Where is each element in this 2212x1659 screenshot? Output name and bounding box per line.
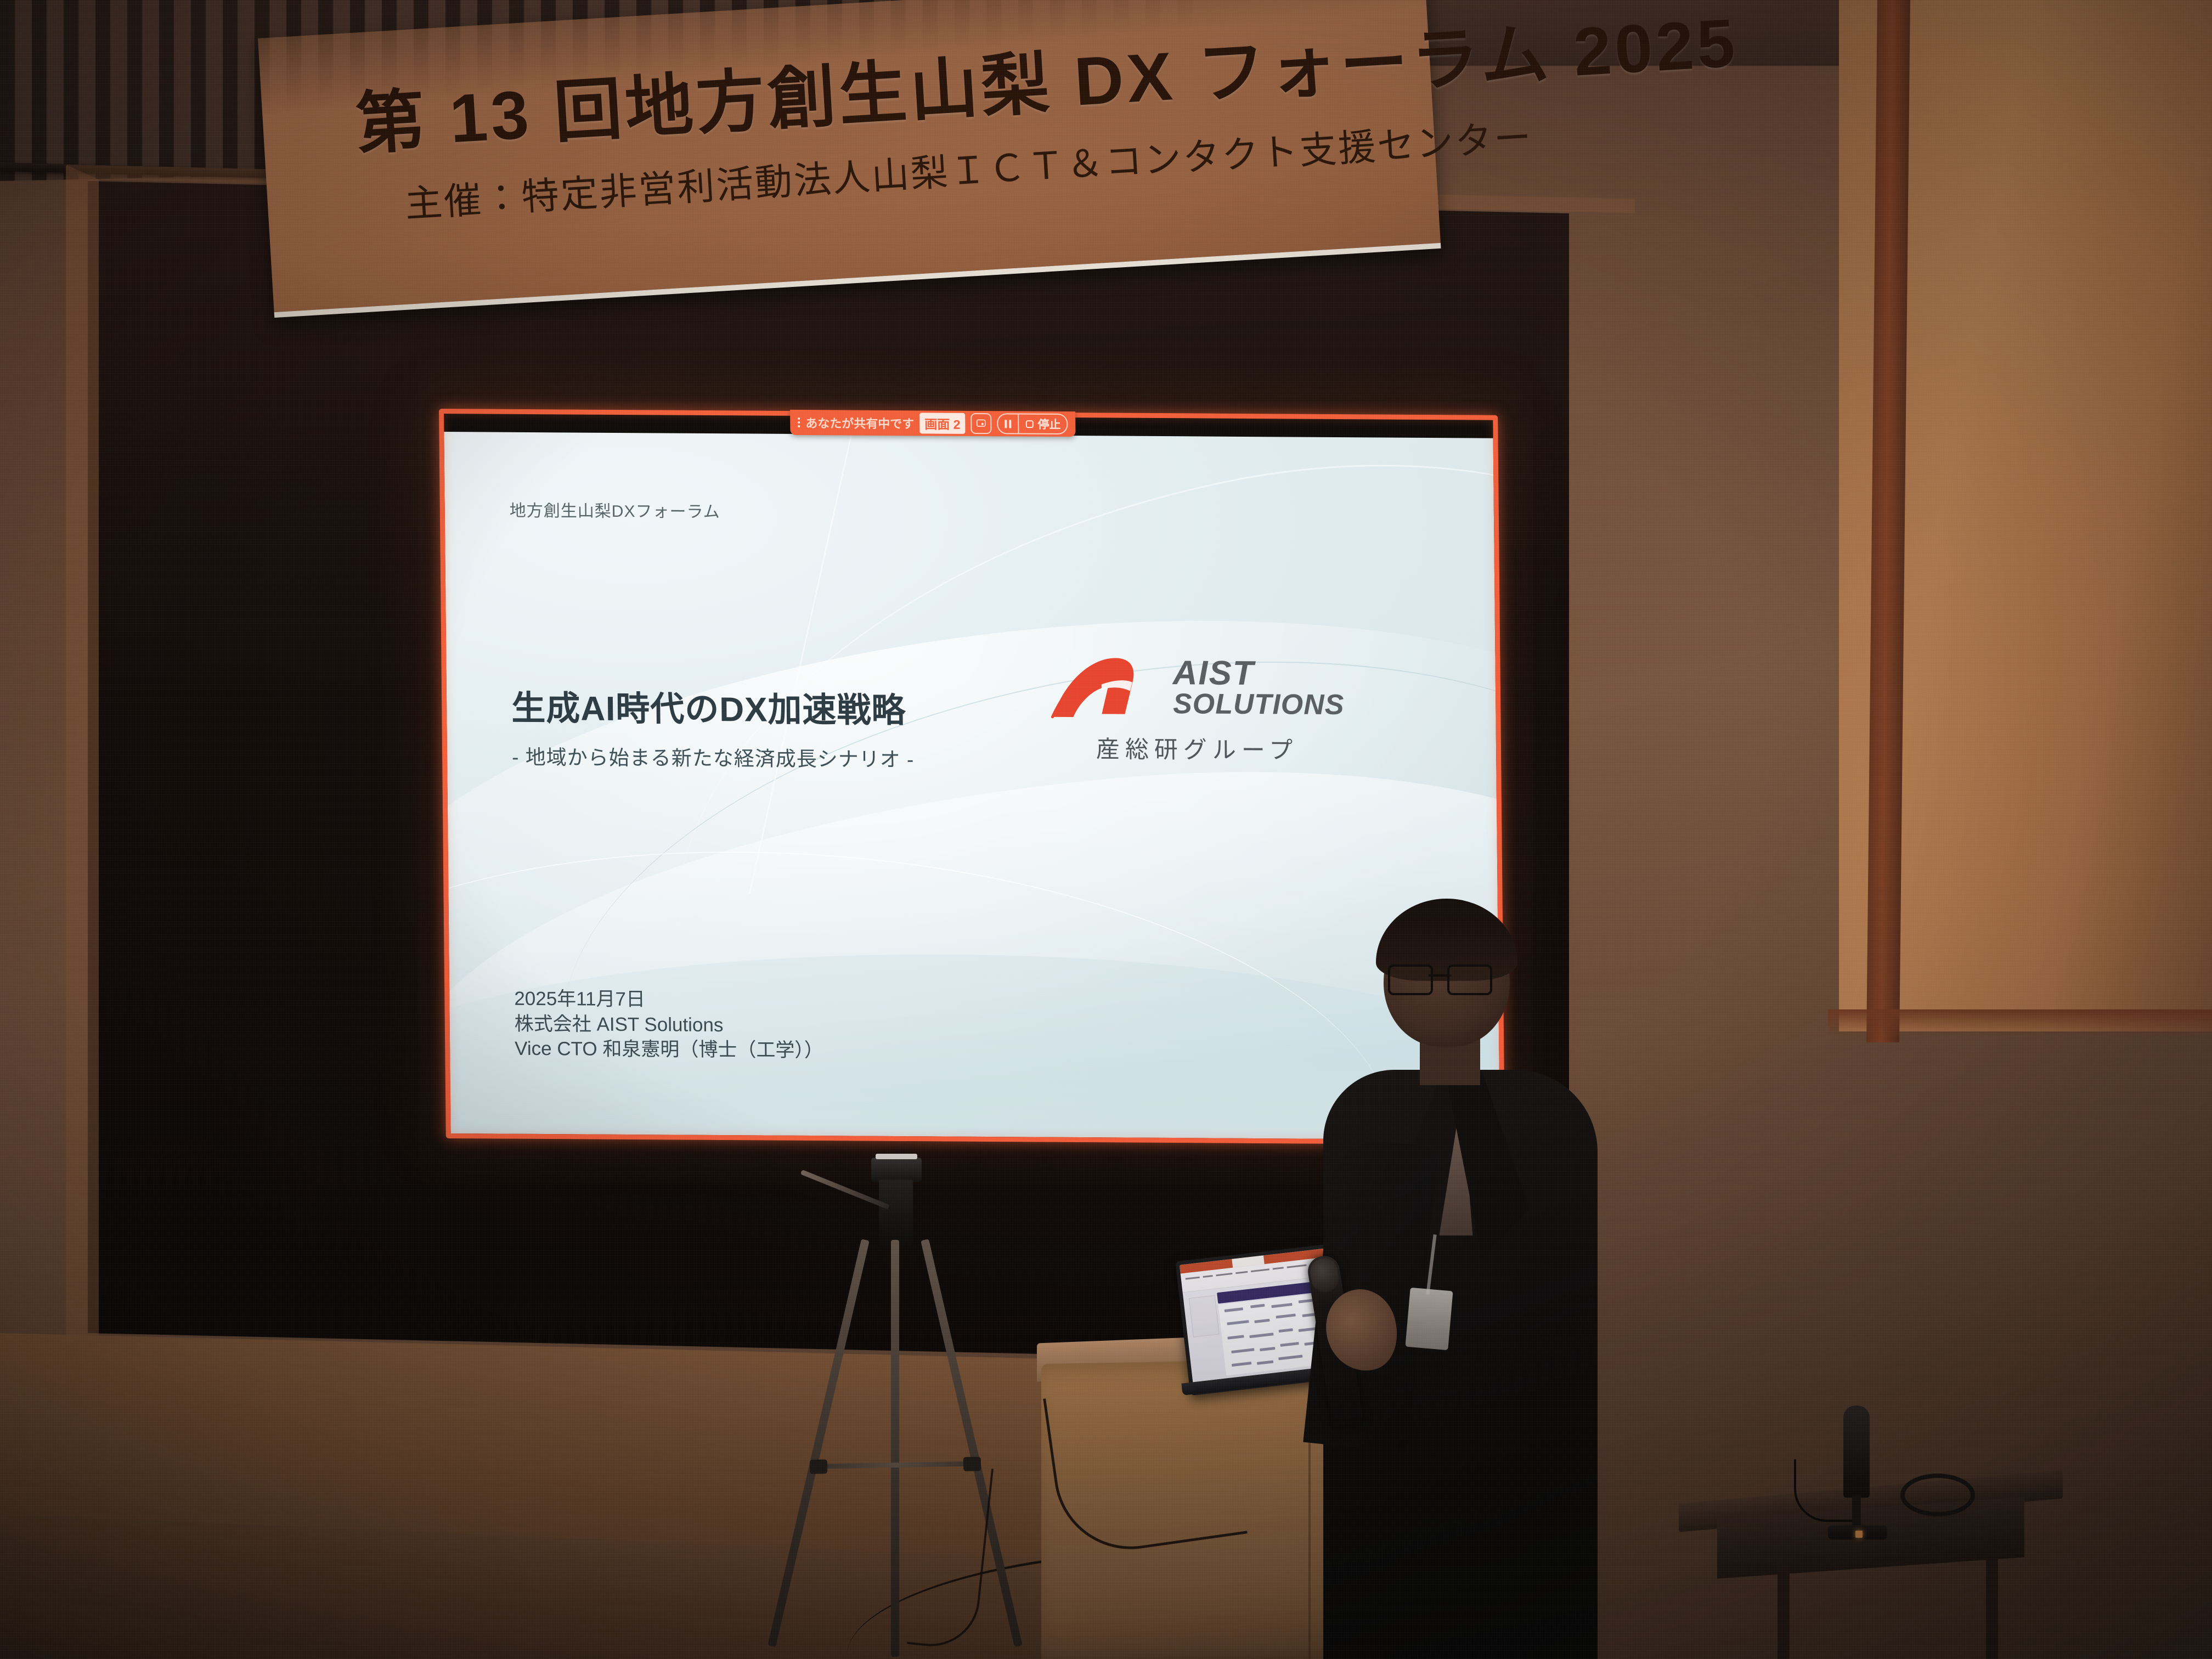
tripod-leg-left (768, 1239, 870, 1647)
slide-subtitle: - 地域から始まる新たな経済成長シナリオ - (512, 741, 915, 772)
presenter-name-badge (1405, 1288, 1453, 1350)
aist-swoosh-mark (1048, 652, 1159, 722)
aist-wordmark-line2: SOLUTIONS (1173, 690, 1345, 719)
slide-presenter-info: 2025年11月7日 株式会社 AIST Solutions Vice CTO … (514, 986, 823, 1063)
drag-handle-icon[interactable] (798, 417, 800, 427)
presenter-glasses (1388, 964, 1492, 991)
slide-wave-5 (444, 812, 1408, 1140)
laptop-slide-thumbnail-pane (1189, 1295, 1220, 1338)
side-table (1679, 1448, 2096, 1659)
side-table-leg-right (1986, 1558, 1998, 1659)
pause-button[interactable] (998, 414, 1018, 433)
conference-photo-scene: 第 13 回地方創生山梨 DX フォーラム 2025 主催：特定非営利活動法人山… (0, 0, 2212, 1659)
side-table-leg-left (1778, 1558, 1790, 1659)
shared-screen-badge: 画面 2 (919, 413, 966, 434)
wall-trim-horizontal (1828, 1009, 2212, 1037)
tripod-cable (907, 1462, 994, 1651)
presenter-speaker (1300, 905, 1607, 1659)
slide-date: 2025年11月7日 (514, 986, 823, 1013)
camera-tripod (779, 1158, 1009, 1659)
video-camera (871, 1158, 922, 1182)
slide-company: 株式会社 AIST Solutions (515, 1011, 823, 1038)
coiled-cable (1900, 1474, 1975, 1516)
table-mic-stand (1852, 1496, 1861, 1530)
annotate-icon[interactable] (970, 413, 991, 434)
table-microphone (1843, 1406, 1870, 1498)
tripod-leg-center (891, 1240, 899, 1657)
stop-share-button[interactable]: 停止 (1018, 414, 1066, 433)
slide-presenter-name: Vice CTO 和泉憲明（博士（工学）） (515, 1036, 823, 1063)
aist-wordmark-line1: AIST (1172, 657, 1344, 690)
share-controls-group[interactable]: 停止 (997, 413, 1068, 435)
aist-solutions-logo: AIST SOLUTIONS 産総研グループ (1020, 652, 1373, 766)
glasses-lens-left (1388, 964, 1433, 995)
slide-title: 生成AI時代のDX加速戦略 (511, 680, 906, 732)
share-status-label: あなたが共有中です (805, 414, 914, 432)
tripod-head (879, 1180, 913, 1245)
slide-eyebrow-text: 地方創生山梨DXフォーラム (510, 497, 720, 522)
screen-share-toolbar[interactable]: あなたが共有中です 画面 2 停止 (790, 410, 1076, 437)
glasses-lens-right (1447, 964, 1492, 995)
power-led-indicator (1855, 1531, 1863, 1538)
aist-group-label: 産総研グループ (1022, 730, 1373, 766)
stop-share-label: 停止 (1037, 416, 1060, 432)
